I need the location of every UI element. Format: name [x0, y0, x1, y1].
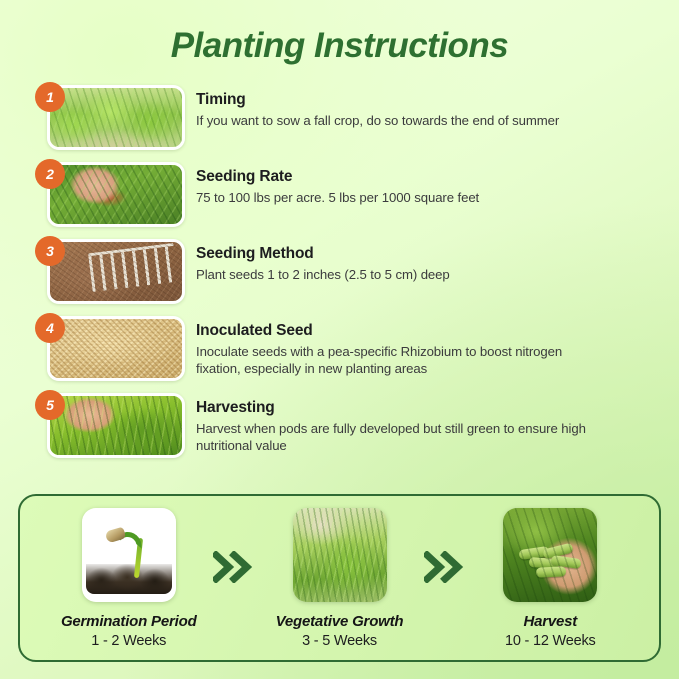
step-title-1: Timing — [196, 91, 559, 109]
page-title: Planting Instructions — [0, 0, 679, 66]
step-description-1: If you want to sow a fall crop, do so to… — [196, 112, 559, 129]
photo-scene — [50, 242, 182, 301]
step-description-2: 75 to 100 lbs per acre. 5 lbs per 1000 s… — [196, 189, 479, 206]
steps-list: 1 Timing If you want to sow a fall crop,… — [0, 82, 679, 467]
harvesting-pods-photo — [47, 393, 185, 458]
pea-pod — [529, 556, 560, 568]
step-title-5: Harvesting — [196, 399, 596, 417]
step-thumbnail-wrap-4: 4 — [0, 313, 196, 381]
sprouting-seed-photo — [82, 508, 176, 602]
step-item-5: 5 Harvesting Harvest when pods are fully… — [0, 390, 665, 467]
step-text-4: Inoculated Seed Inoculate seeds with a p… — [196, 313, 596, 378]
step-thumbnail-wrap-2: 2 — [0, 159, 196, 227]
step-title-3: Seeding Method — [196, 245, 450, 263]
timeline-stage-label-1: Germination Period — [61, 613, 197, 630]
step-item-2: 2 Seeding Rate 75 to 100 lbs per acre. 5… — [0, 159, 665, 236]
step-text-1: Timing If you want to sow a fall crop, d… — [196, 82, 559, 129]
soil-mound — [86, 564, 172, 594]
double-chevron-right-icon — [211, 551, 256, 583]
timeline-stage-harvest: Harvest 10 - 12 Weeks — [468, 508, 633, 649]
step-title-2: Seeding Rate — [196, 168, 479, 186]
step-thumbnail-wrap-1: 1 — [0, 82, 196, 150]
timeline-stage-duration-2: 3 - 5 Weeks — [302, 633, 377, 649]
step-item-3: 3 Seeding Method Plant seeds 1 to 2 inch… — [0, 236, 665, 313]
step-text-3: Seeding Method Plant seeds 1 to 2 inches… — [196, 236, 450, 283]
step-number-badge-4: 4 — [35, 313, 65, 343]
photo-scene — [293, 508, 387, 602]
photo-scene — [503, 508, 597, 602]
step-number-badge-3: 3 — [35, 236, 65, 266]
timeline-stage-label-2: Vegetative Growth — [276, 613, 404, 630]
step-thumbnail-wrap-5: 5 — [0, 390, 196, 458]
photo-scene — [50, 319, 182, 378]
timeline-stage-label-3: Harvest — [523, 613, 577, 630]
step-item-1: 1 Timing If you want to sow a fall crop,… — [0, 82, 665, 159]
double-chevron-right-icon-2 — [422, 551, 467, 583]
timeline-stage-vegetative-growth: Vegetative Growth 3 - 5 Weeks — [257, 508, 422, 649]
step-text-2: Seeding Rate 75 to 100 lbs per acre. 5 l… — [196, 159, 479, 206]
photo-scene — [50, 165, 182, 224]
pea-pod — [536, 566, 566, 578]
photo-scene — [50, 396, 182, 455]
step-number-badge-1: 1 — [35, 82, 65, 112]
step-text-5: Harvesting Harvest when pods are fully d… — [196, 390, 596, 455]
rake-on-soil-photo — [47, 239, 185, 304]
photo-scene — [50, 88, 182, 147]
pea-pod — [519, 545, 550, 559]
pea-pod — [543, 542, 575, 559]
timeline-stage-duration-1: 1 - 2 Weeks — [91, 633, 166, 649]
timeline-stage-duration-3: 10 - 12 Weeks — [505, 633, 596, 649]
vegetative-growth-photo — [293, 508, 387, 602]
step-description-3: Plant seeds 1 to 2 inches (2.5 to 5 cm) … — [196, 266, 450, 283]
step-description-5: Harvest when pods are fully developed bu… — [196, 420, 596, 455]
hand-sowing-seeds-photo — [47, 162, 185, 227]
inoculated-seeds-photo — [47, 316, 185, 381]
step-description-4: Inoculate seeds with a pea-specific Rhiz… — [196, 343, 596, 378]
photo-scene — [82, 508, 176, 602]
step-number-badge-5: 5 — [35, 390, 65, 420]
step-title-4: Inoculated Seed — [196, 322, 596, 340]
pea-seedlings-field-photo — [47, 85, 185, 150]
timeline-stage-germination: Germination Period 1 - 2 Weeks — [46, 508, 211, 649]
step-item-4: 4 Inoculated Seed Inoculate seeds with a… — [0, 313, 665, 390]
pea-pod — [551, 554, 582, 568]
growth-timeline-panel: Germination Period 1 - 2 Weeks Vegetativ… — [18, 494, 661, 662]
step-number-badge-2: 2 — [35, 159, 65, 189]
step-thumbnail-wrap-3: 3 — [0, 236, 196, 304]
harvested-pods-in-hand-photo — [503, 508, 597, 602]
infographic-page: Planting Instructions 1 Timing If you wa… — [0, 0, 679, 679]
